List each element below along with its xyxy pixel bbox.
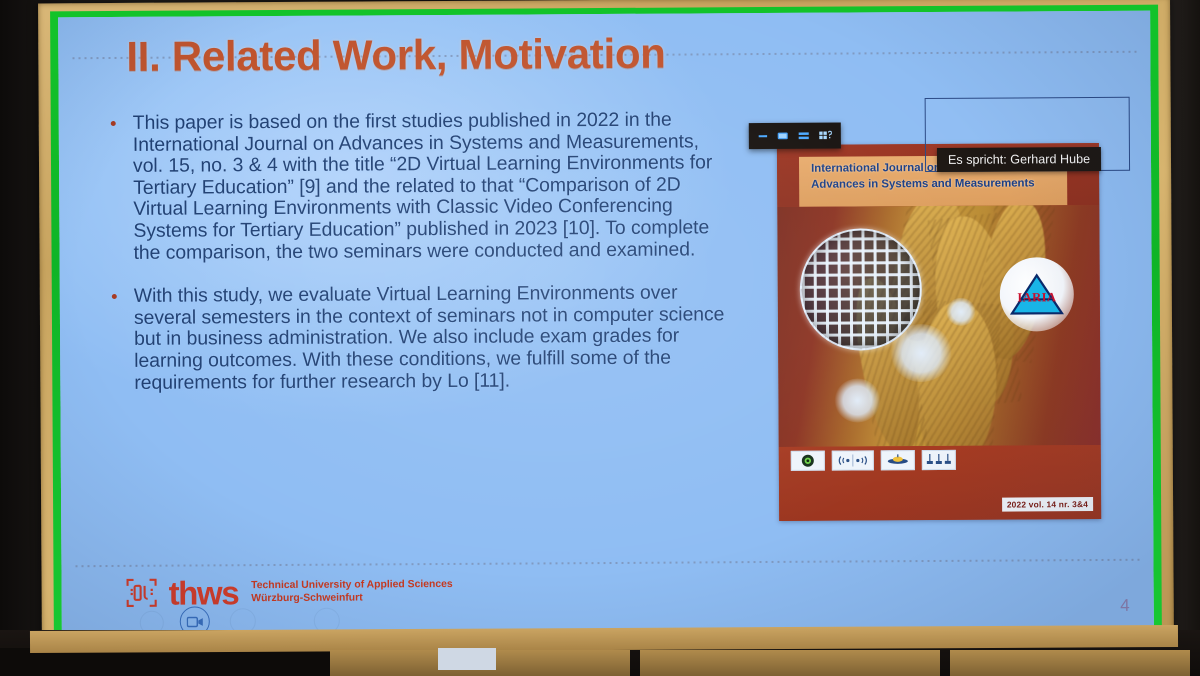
page-number: 4 [1120,596,1130,616]
video-toolbar[interactable] [749,123,841,150]
university-name: Technical University of Applied Sciences… [247,578,453,605]
bullet-item: This paper is based on the first studies… [91,109,732,264]
iaria-logo: IARIA [1000,257,1074,331]
minimize-icon[interactable] [758,130,768,142]
eye-lens-icon [791,451,825,471]
cover-photograph: IARIA [777,205,1100,447]
thws-wordmark: thws [169,576,239,609]
wireframe-globe-icon [799,228,922,351]
page-title: II. Related Work, Motivation [126,30,666,81]
university-line-1: Technical University of Applied Sciences [251,578,453,592]
desk-white-object [438,648,496,670]
window-icon[interactable] [777,130,789,142]
iaria-label: IARIA [1000,290,1074,305]
cover-icon-row [791,450,956,471]
slide-surface: II. Related Work, Motivation This paper … [58,11,1154,640]
thws-logo: thws Technical University of Applied Sci… [124,573,453,611]
presentation-photo: II. Related Work, Motivation This paper … [0,0,1200,676]
grid-view-icon[interactable] [818,129,832,142]
feather-texture [913,300,1002,447]
desk-front-panel [950,650,1190,676]
bullet-item: With this study, we evaluate Virtual Lea… [92,282,733,394]
gauges-icon [922,450,956,470]
footer-divider [75,559,1140,568]
list-icon[interactable] [798,130,810,142]
speaker-tooltip: Es spricht: Gerhard Hube [937,147,1101,172]
cover-issue-caption: 2022 vol. 14 nr. 3&4 [1002,497,1093,512]
desk-front-panel [640,650,940,676]
thws-mark-icon [124,575,160,611]
journal-cover-image: International Journal on Advances in Sys… [777,143,1101,521]
signal-waves-icon [832,450,874,470]
cover-title-line-2: Advances in Systems and Measurements [811,175,1071,193]
slide-body: This paper is based on the first studies… [91,109,733,416]
university-line-2: Würzburg-Schweinfurt [251,591,453,605]
saucer-icon [881,450,915,470]
